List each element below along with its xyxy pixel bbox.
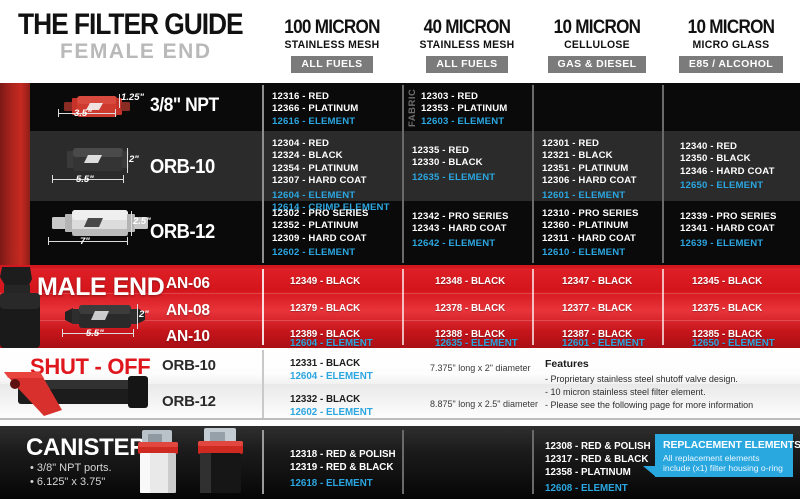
dimension-tick [58,109,59,117]
part-number: 12324 - BLACK [272,150,390,162]
section-title-female-end: FEMALE END [60,40,212,64]
dimension-tick [133,329,134,337]
dimension-line [131,211,132,236]
canister-bullet: • 3/8" NPT ports. [30,462,112,474]
part-number: 12353 - PLATINUM [421,103,507,115]
column-header-100-micron: 100 MICRON STAINLESS MESH ALL FUELS [262,18,402,73]
replacement-elements-callout: REPLACEMENT ELEMENTS All replacement ele… [655,434,793,477]
column-fuel-badge: ALL FUELS [291,56,372,73]
dimension-diameter: 1.25" [121,92,144,103]
part-number-element: 12642 - ELEMENT [412,238,509,250]
part-cell: 12331 - BLACK 12604 - ELEMENT [290,358,373,383]
column-fuel-badge: GAS & DIESEL [548,56,647,73]
dimension-tick [52,175,53,183]
part-number-element: 12650 - ELEMENT [680,180,775,192]
part-number: 12350 - BLACK [680,153,775,165]
part-cell: 12335 - RED 12330 - BLACK 12635 - ELEMEN… [412,145,495,184]
canister-art-strip [0,83,30,265]
dimension-length: 7" [80,236,90,247]
column-divider [532,85,534,263]
part-cell: 12302 - PRO SERIES 12352 - PLATINUM 1230… [272,208,369,260]
dimension-diameter: 2.5" [133,216,151,227]
part-number: 12319 - RED & BLACK [290,461,396,474]
column-divider [532,269,534,345]
section-title-male-end: MALE END [37,273,164,302]
dimension-tick [127,237,128,245]
section-title-shut-off: SHUT - OFF [30,354,150,380]
dimension-diameter: 2" [129,154,139,165]
callout-line-2: include (x1) filter housing o-ring [663,463,786,474]
column-divider [262,85,264,263]
part-number: 12304 - RED [272,138,390,150]
shut-off-dimension-10: 7.375" long x 2" diameter [430,363,530,373]
column-divider [262,269,264,345]
an-size-label-10: AN-10 [166,328,210,346]
part-number: 12301 - RED [542,138,637,150]
row-label-npt: 3/8" NPT [150,95,219,117]
dimension-tick [115,109,116,117]
dimension-line [119,94,120,108]
part-number: 12366 - PLATINUM [272,103,358,115]
dimension-tick [48,237,49,245]
dimension-tick [123,175,124,183]
part-cell: 12304 - RED 12324 - BLACK 12354 - PLATIN… [272,138,390,214]
part-number: 12321 - BLACK [542,150,637,162]
part-number: 12308 - RED & POLISH [545,440,651,453]
part-number: 12306 - HARD COAT [542,175,637,187]
column-divider [262,430,264,494]
part-number: 12332 - BLACK [290,394,373,407]
part-number: 12339 - PRO SERIES [680,211,777,223]
part-number: 12358 - PLATINUM [545,466,651,479]
dimension-length: 5.5" [86,328,104,339]
column-micron-label: 40 MICRON [409,18,526,38]
part-number: 12348 - BLACK [435,276,505,287]
shut-off-orb-label-10: ORB-10 [162,357,216,374]
page-title: THE FILTER GUIDE [18,8,243,42]
column-material-label: STAINLESS MESH [266,38,399,52]
column-fuel-badge: ALL FUELS [426,56,507,73]
row-divider [0,320,800,321]
part-cell: 12308 - RED & POLISH 12317 - RED & BLACK… [545,440,651,495]
column-divider [402,269,404,345]
column-fuel-badge: E85 / ALCOHOL [679,56,783,73]
part-number: 12349 - BLACK [290,276,360,287]
part-number: 12318 - RED & POLISH [290,448,396,461]
column-divider [662,269,664,345]
canister-bullet: • 6.125" x 3.75" [30,476,105,488]
part-cell: 12318 - RED & POLISH 12319 - RED & BLACK… [290,448,396,490]
part-cell: 12301 - RED 12321 - BLACK 12351 - PLATIN… [542,138,637,202]
column-material-label: CELLULOSE [535,38,659,52]
part-number-element: 12608 - ELEMENT [545,482,651,495]
feature-item: - 10 micron stainless steel filter eleme… [545,386,753,399]
part-number: 12335 - RED [412,145,495,157]
part-number: 12330 - BLACK [412,157,495,169]
part-number: 12309 - HARD COAT [272,233,369,245]
column-micron-label: 100 MICRON [269,18,395,38]
part-number: 12303 - RED [421,91,507,103]
column-divider [402,430,404,494]
part-number: 12345 - BLACK [692,276,762,287]
column-divider [662,85,664,263]
column-divider [262,350,264,419]
part-cell: 12316 - RED 12366 - PLATINUM 12616 - ELE… [272,91,358,128]
part-number: 12331 - BLACK [290,358,373,371]
part-number-element: 12604 - ELEMENT [290,371,373,384]
part-number: 12375 - BLACK [692,303,762,314]
dimension-tick [62,329,63,337]
column-micron-label: 10 MICRON [539,18,656,38]
part-number-element: 12610 - ELEMENT [542,247,639,259]
part-number-element: 12602 - ELEMENT [290,407,373,420]
part-number-element: 12639 - ELEMENT [680,238,777,250]
part-number-element: 12603 - ELEMENT [421,116,507,128]
fabric-tag-label: FABRIC [407,89,418,127]
column-micron-label: 10 MICRON [669,18,793,38]
features-panel: Features - Proprietary stainless steel s… [545,358,753,412]
column-header-40-micron: 40 MICRON STAINLESS MESH ALL FUELS [402,18,532,73]
feature-item: - Proprietary stainless steel shutoff va… [545,373,753,386]
an-size-label-08: AN-08 [166,302,210,320]
part-number-element: 12602 - ELEMENT [272,247,369,259]
table-row [0,83,800,131]
row-label-orb12: ORB-12 [150,221,215,244]
part-number: 12378 - BLACK [435,303,505,314]
part-number: 12342 - PRO SERIES [412,211,509,223]
female-end-table: FABRIC 3/8" NPT 3.5" 1.25" 12316 - RED 1… [0,83,800,265]
column-material-label: MICRO GLASS [665,38,796,52]
dimension-line [127,148,128,173]
part-number: 12346 - HARD COAT [680,166,775,178]
part-number: 12310 - PRO SERIES [542,208,639,220]
part-cell: 12310 - PRO SERIES 12360 - PLATINUM 1231… [542,208,639,260]
part-cell: 12303 - RED 12353 - PLATINUM 12603 - ELE… [421,91,507,128]
part-number: 12351 - PLATINUM [542,163,637,175]
row-divider [0,265,800,268]
part-number-element: 12601 - ELEMENT [542,190,637,202]
part-number: 12354 - PLATINUM [272,163,390,175]
part-number: 12347 - BLACK [562,276,632,287]
column-header-10-micron-micro-glass: 10 MICRON MICRO GLASS E85 / ALCOHOL [662,18,800,73]
an-size-label-06: AN-06 [166,275,210,293]
shut-off-orb-label-12: ORB-12 [162,393,216,410]
part-number-element: 12616 - ELEMENT [272,116,358,128]
part-cell: 12332 - BLACK 12602 - ELEMENT [290,394,373,419]
part-number-element: 12618 - ELEMENT [290,477,396,490]
part-number: 12302 - PRO SERIES [272,208,369,220]
part-number: 12316 - RED [272,91,358,103]
part-number: 12307 - HARD COAT [272,175,390,187]
row-label-orb10: ORB-10 [150,156,215,179]
part-number: 12352 - PLATINUM [272,220,369,232]
part-number-element: 12635 - ELEMENT [412,172,495,184]
part-number: 12340 - RED [680,141,775,153]
part-number: 12360 - PLATINUM [542,220,639,232]
callout-title: REPLACEMENT ELEMENTS [663,439,786,451]
dimension-length: 5.5" [76,174,94,185]
part-cell: 12342 - PRO SERIES 12343 - HARD COAT 126… [412,211,509,250]
part-number: 12341 - HARD COAT [680,223,777,235]
feature-item: - Please see the following page for more… [545,399,753,412]
column-divider [532,430,534,494]
features-title: Features [545,358,753,370]
row-divider [0,418,800,420]
section-title-canister: CANISTER [26,434,146,462]
filter-guide-page: THE FILTER GUIDE FEMALE END 100 MICRON S… [0,0,800,499]
part-cell: 12339 - PRO SERIES 12341 - HARD COAT 126… [680,211,777,250]
dimension-line [137,304,138,329]
part-number: 12343 - HARD COAT [412,223,509,235]
column-divider [402,85,404,263]
column-header-10-micron-cellulose: 10 MICRON CELLULOSE GAS & DIESEL [532,18,662,73]
part-cell: 12340 - RED 12350 - BLACK 12346 - HARD C… [680,141,775,193]
part-number: 12379 - BLACK [290,303,360,314]
callout-line-1: All replacement elements [663,453,786,464]
dimension-diameter: 2" [139,309,149,320]
shut-off-dimension-12: 8.875" long x 2.5" diameter [430,399,538,409]
dimension-length: 3.5" [74,108,92,119]
column-material-label: STAINLESS MESH [405,38,529,52]
part-number: 12317 - RED & BLACK [545,453,651,466]
part-number: 12377 - BLACK [562,303,632,314]
part-number: 12311 - HARD COAT [542,233,639,245]
part-number-element: 12604 - ELEMENT [272,190,390,202]
